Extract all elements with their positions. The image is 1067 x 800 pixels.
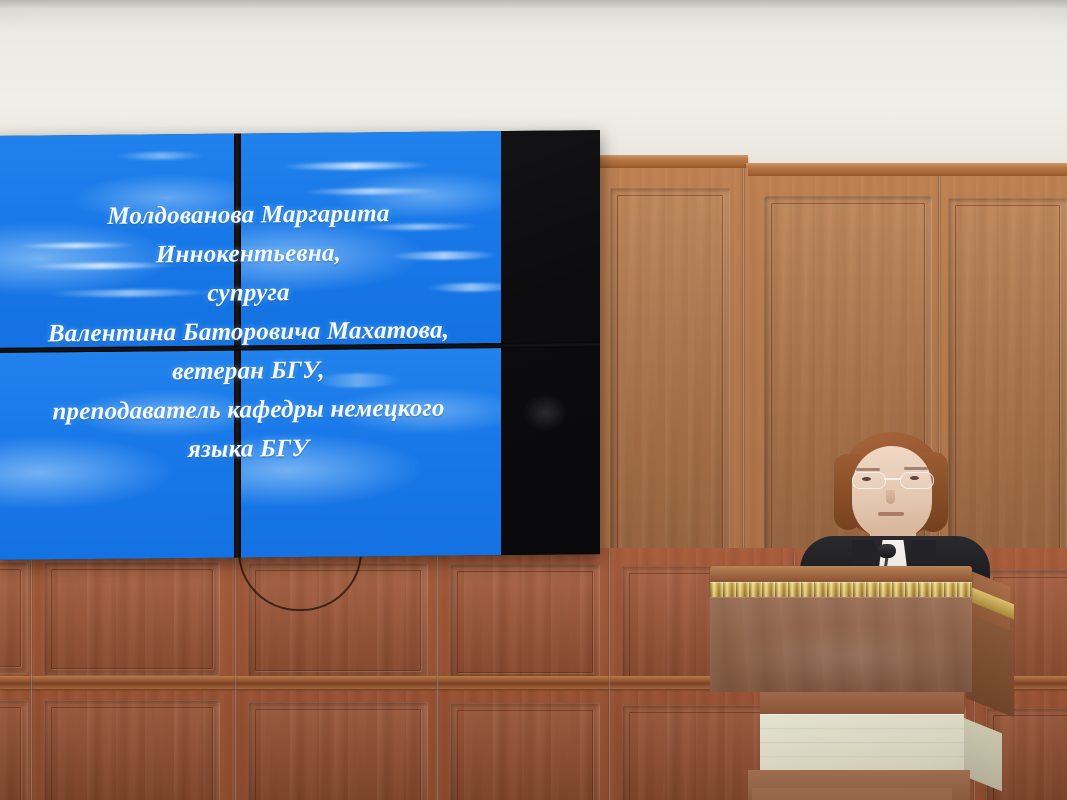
video-wall-tile-bottom-left xyxy=(0,351,234,560)
presentation-hall-photo: Молдованова Маргарита Иннокентьевна, суп… xyxy=(0,0,1067,800)
wainscot-panel-r1c0 xyxy=(0,562,28,674)
speaker-mouth xyxy=(878,512,904,516)
wainscot-seam-4 xyxy=(608,551,611,800)
wall-seam-1 xyxy=(742,168,745,560)
wainscot-panel-r2c1 xyxy=(44,700,220,800)
wainscot-seam-3 xyxy=(436,549,439,800)
glasses-lens-right xyxy=(900,472,934,489)
video-wall-tile-top-right xyxy=(241,131,501,345)
video-wall-tile-bottom-mid xyxy=(241,348,501,557)
wall-panel-a xyxy=(610,188,730,560)
speaker-podium xyxy=(704,566,1010,800)
speaker-nose xyxy=(886,490,895,504)
wainscot-seam-2 xyxy=(234,548,237,800)
video-wall-tile-top-left xyxy=(0,134,234,348)
podium-base xyxy=(752,788,952,800)
wood-top-rail-left xyxy=(596,155,748,168)
glasses-bridge xyxy=(884,478,900,480)
podium-top-surface xyxy=(710,566,972,582)
microphone-icon xyxy=(878,544,896,558)
wainscot-panel-r2c0 xyxy=(0,700,28,800)
video-wall[interactable]: Молдованова Маргарита Иннокентьевна, суп… xyxy=(0,130,600,560)
podium-marble-band xyxy=(760,714,964,770)
wainscot-panel-r2c2 xyxy=(248,702,428,800)
wainscot-panel-r1c3 xyxy=(450,564,600,680)
wainscot-seam-1 xyxy=(30,548,33,800)
wood-top-rail-right xyxy=(746,163,1067,176)
podium-front-panel xyxy=(710,597,972,692)
speaker-brow-right xyxy=(904,467,928,470)
wainscot-panel-r2c3 xyxy=(450,703,600,800)
glasses-lens-left xyxy=(852,472,886,489)
speaker-glasses xyxy=(850,472,936,487)
wainscot-panel-r1c1 xyxy=(44,562,220,676)
podium-neck xyxy=(760,692,964,714)
speaker-brow-left xyxy=(856,468,880,471)
podium-gold-trim xyxy=(710,582,972,597)
